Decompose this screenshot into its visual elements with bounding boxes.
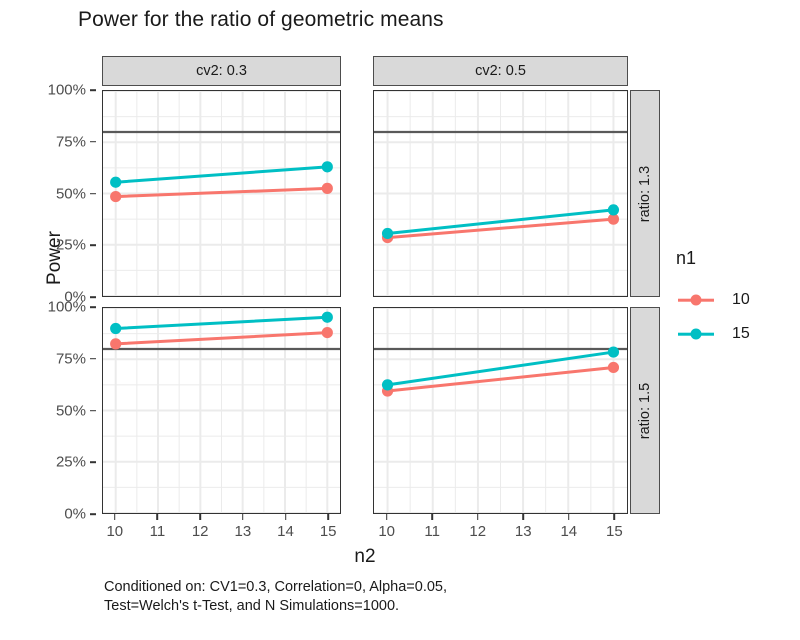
x-axis-tick-mark: [477, 514, 479, 520]
x-axis-tick-mark: [285, 514, 287, 520]
y-axis-tick-mark: [90, 141, 96, 143]
y-axis-tick-mark: [90, 89, 96, 91]
chart-title: Power for the ratio of geometric means: [78, 8, 444, 32]
y-axis-tick-label: 75%: [56, 350, 86, 367]
y-axis-tick-mark: [90, 193, 96, 195]
x-axis-tick-mark: [522, 514, 524, 520]
legend-entries: 1015: [676, 283, 750, 351]
caption-line-1: Conditioned on: CV1=0.3, Correlation=0, …: [104, 578, 447, 597]
y-axis-tick-mark: [90, 513, 96, 515]
y-axis-tick-mark: [90, 244, 96, 246]
x-axis-ticks-col-0: 101112131415: [102, 514, 341, 546]
x-axis-tick-mark: [327, 514, 329, 520]
panel-cv2-0.3-ratio-1.5: [102, 307, 341, 514]
x-axis-tick-label: 12: [192, 523, 209, 540]
panel-cv2-0.5-ratio-1.5: [373, 307, 628, 514]
x-axis-tick-label: 13: [515, 523, 532, 540]
y-axis-tick-mark: [90, 296, 96, 298]
y-axis-tick-label: 100%: [48, 82, 86, 99]
facet-strip-col-1-label: cv2: 0.5: [475, 63, 526, 79]
chart-root: Power for the ratio of geometric means P…: [0, 0, 800, 640]
x-axis-tick-mark: [199, 514, 201, 520]
y-axis-tick-label: 0%: [64, 506, 86, 523]
legend-key-icon: [676, 283, 716, 317]
panel-cv2-0.3-ratio-1.3: [102, 90, 341, 297]
facet-strip-col-0: cv2: 0.3: [102, 56, 341, 86]
x-axis-tick-label: 10: [106, 523, 123, 540]
x-axis-tick-label: 12: [469, 523, 486, 540]
facet-strip-row-0-label: ratio: 1.3: [637, 165, 653, 221]
x-axis-title: n2: [102, 546, 628, 568]
legend-item-label: 15: [732, 325, 750, 343]
panel-cv2-0.5-ratio-1.3: [373, 90, 628, 297]
facet-strip-col-0-label: cv2: 0.3: [196, 63, 247, 79]
chart-caption: Conditioned on: CV1=0.3, Correlation=0, …: [104, 578, 447, 616]
caption-line-2: Test=Welch's t-Test, and N Simulations=1…: [104, 597, 447, 616]
y-axis-tick-label: 50%: [56, 402, 86, 419]
y-axis-ticks-row-1: 0%25%50%75%100%: [36, 307, 96, 514]
y-axis-ticks-row-0: 0%25%50%75%100%: [36, 90, 96, 297]
y-axis-tick-mark: [90, 306, 96, 308]
y-axis-tick-label: 25%: [56, 454, 86, 471]
facet-strip-row-0: ratio: 1.3: [630, 90, 660, 297]
legend-title: n1: [676, 248, 750, 269]
x-axis-tick-label: 13: [234, 523, 251, 540]
y-axis-tick-label: 100%: [48, 299, 86, 316]
legend-item-10[interactable]: 10: [676, 283, 750, 317]
x-axis-tick-mark: [114, 514, 116, 520]
x-axis-tick-mark: [614, 514, 616, 520]
x-axis-tick-mark: [431, 514, 433, 520]
x-axis-tick-label: 15: [606, 523, 623, 540]
legend-item-15[interactable]: 15: [676, 317, 750, 351]
legend-item-label: 10: [732, 291, 750, 309]
x-axis-ticks-col-1: 101112131415: [373, 514, 628, 546]
y-axis-tick-mark: [90, 358, 96, 360]
x-axis-tick-label: 11: [150, 523, 166, 540]
x-axis-tick-label: 15: [320, 523, 337, 540]
y-axis-tick-label: 50%: [56, 185, 86, 202]
y-axis-tick-label: 25%: [56, 237, 86, 254]
y-axis-tick-mark: [90, 461, 96, 463]
y-axis-tick-label: 75%: [56, 133, 86, 150]
x-axis-tick-label: 11: [424, 523, 440, 540]
legend: n1 1015: [676, 248, 750, 351]
x-axis-tick-label: 10: [378, 523, 395, 540]
facet-strip-row-1: ratio: 1.5: [630, 307, 660, 514]
x-axis-tick-label: 14: [277, 523, 294, 540]
x-axis-tick-mark: [157, 514, 159, 520]
x-axis-tick-label: 14: [560, 523, 577, 540]
y-axis-tick-mark: [90, 410, 96, 412]
facet-strip-row-1-label: ratio: 1.5: [637, 382, 653, 438]
x-axis-tick-mark: [386, 514, 388, 520]
x-axis-tick-mark: [242, 514, 244, 520]
legend-key-icon: [676, 317, 716, 351]
x-axis-tick-mark: [568, 514, 570, 520]
facet-strip-col-1: cv2: 0.5: [373, 56, 628, 86]
